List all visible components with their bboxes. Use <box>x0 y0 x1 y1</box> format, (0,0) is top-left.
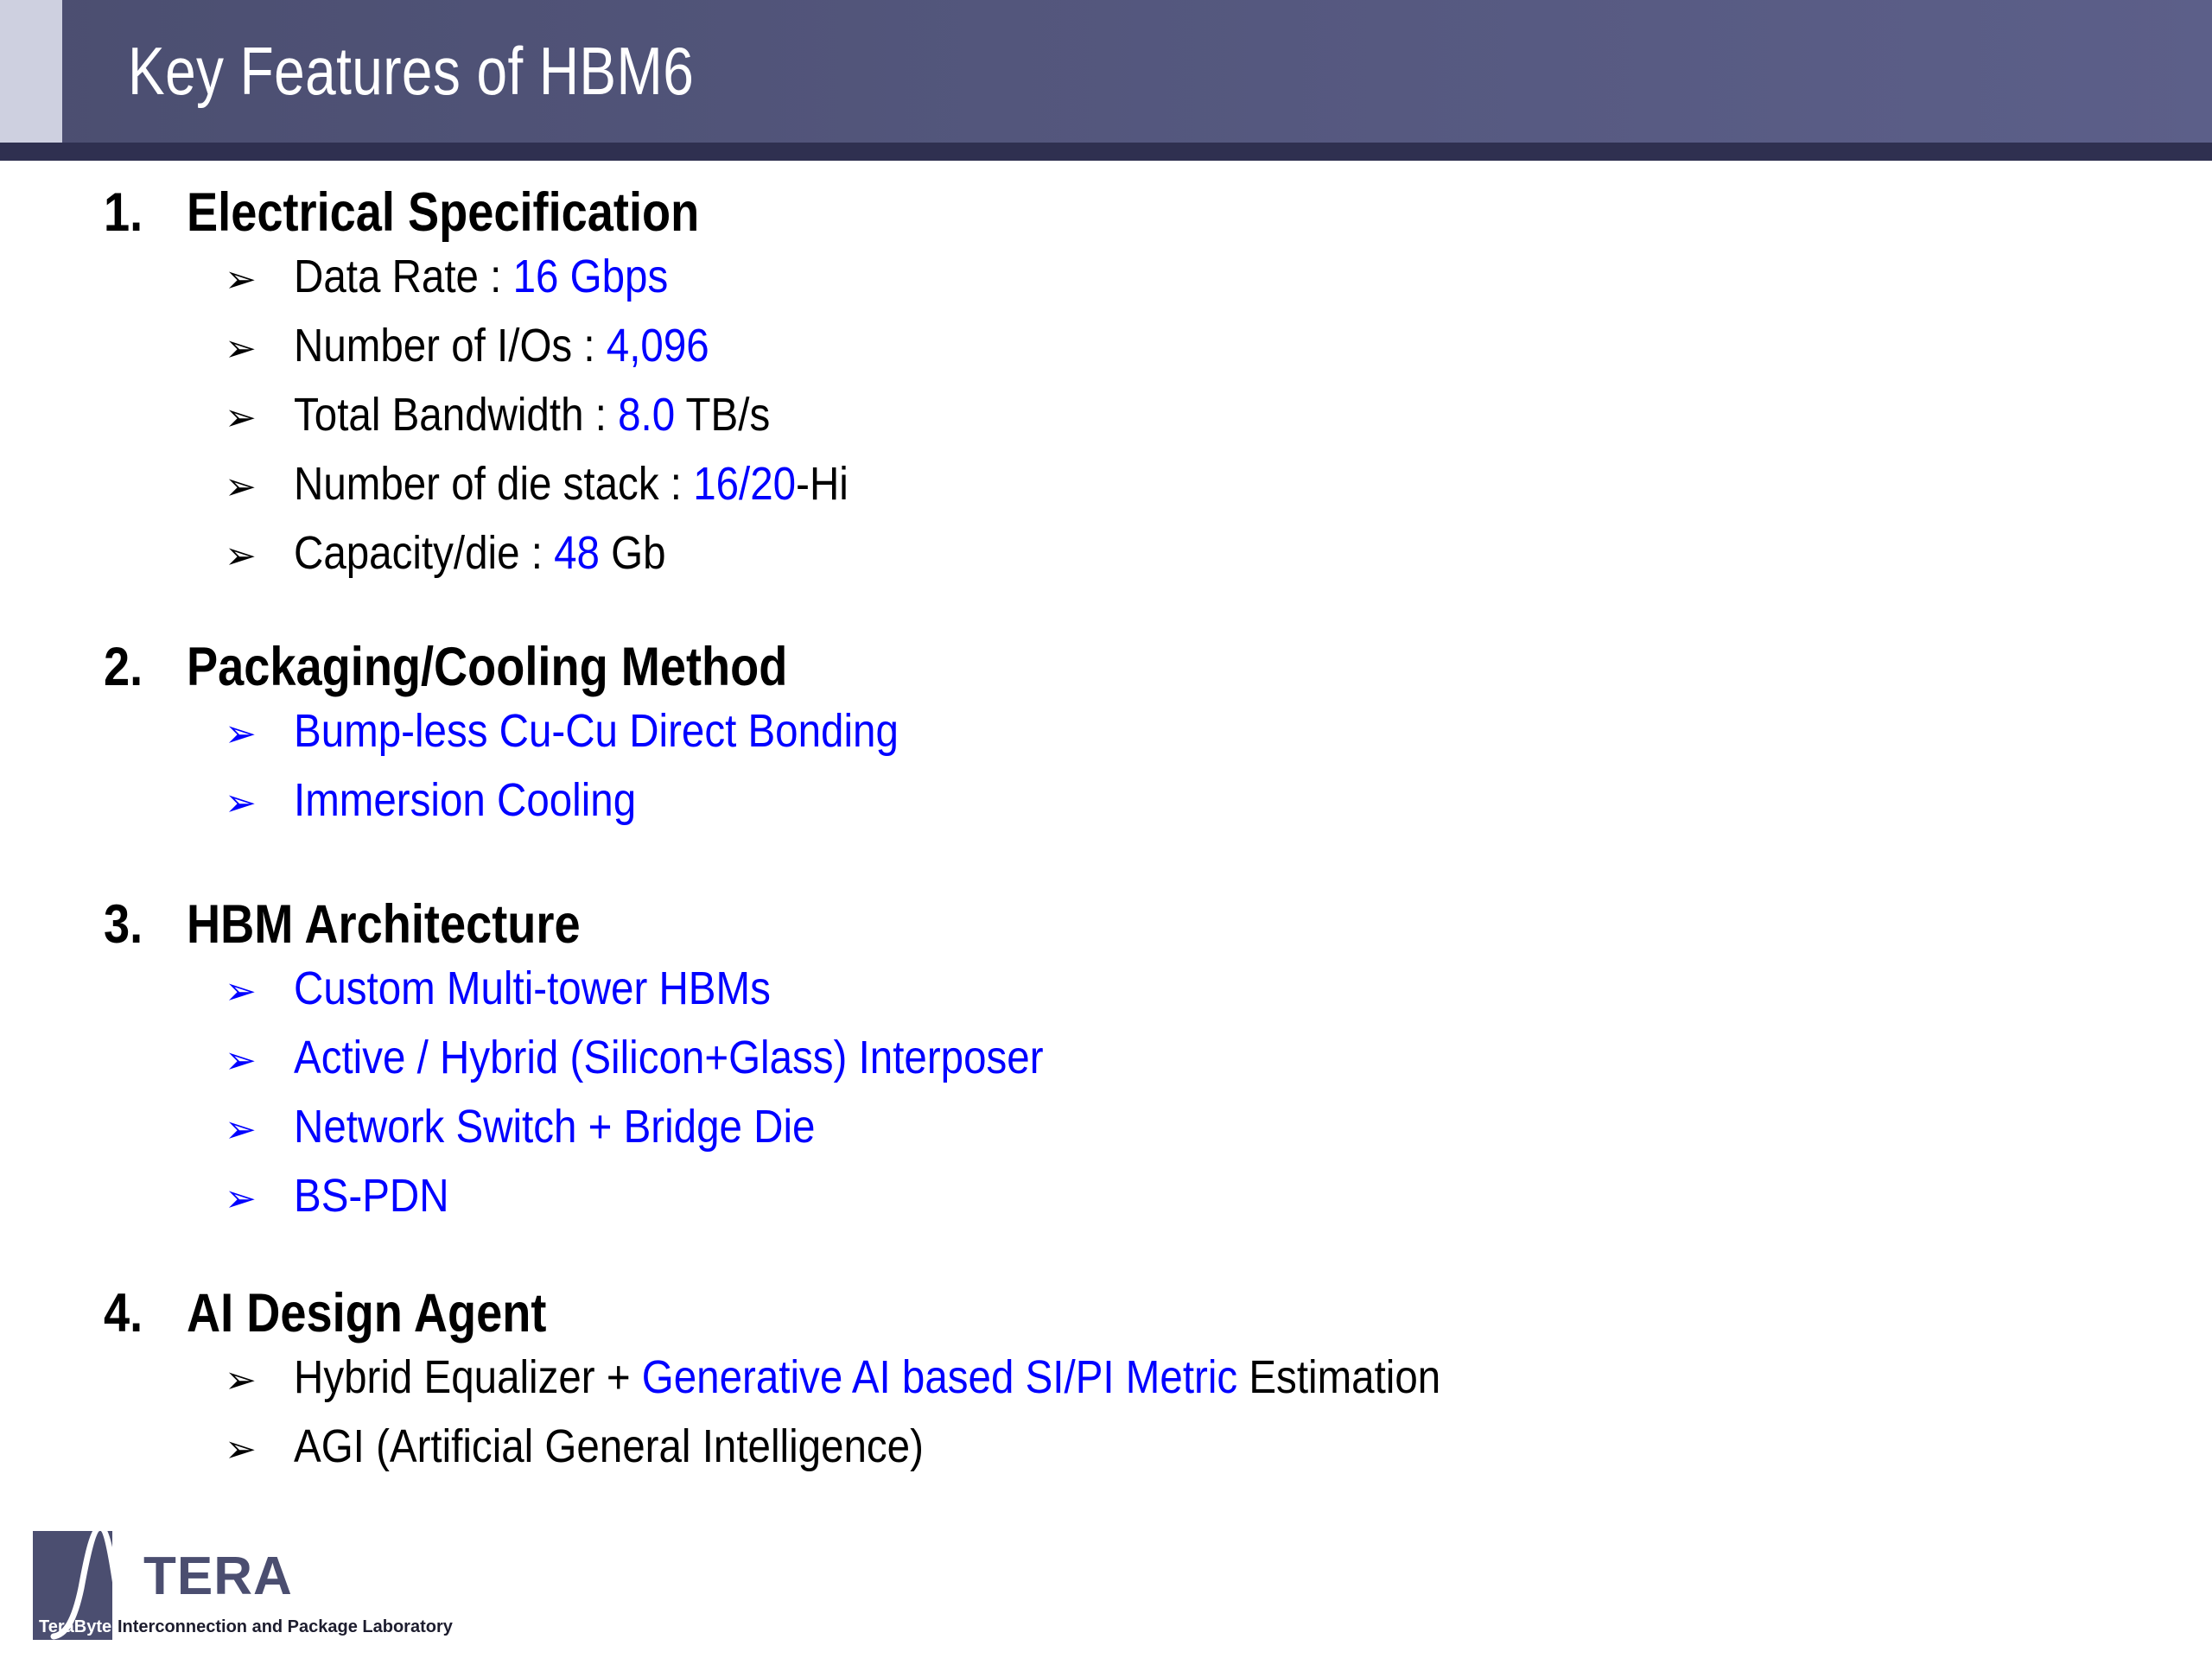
bullet-arrow-icon: ➢ <box>225 1166 294 1232</box>
bullet-item: ➢Total Bandwidth : 8.0 TB/s <box>0 382 2212 451</box>
section-title: HBM Architecture <box>187 893 581 956</box>
bullet-arrow-icon: ➢ <box>225 771 294 836</box>
bullet-arrow-icon: ➢ <box>225 1028 294 1094</box>
outline-section-1: 1.Electrical Specification➢Data Rate : 1… <box>0 181 2212 589</box>
bullet-text-run: 4,096 <box>607 320 709 372</box>
section-number: 1. <box>104 181 175 244</box>
bullet-arrow-icon: ➢ <box>225 1097 294 1163</box>
section-heading: 3.HBM Architecture <box>0 893 2212 956</box>
bullet-text-run: Gbps <box>570 251 669 302</box>
bullet-text: BS-PDN <box>294 1163 449 1229</box>
outline-section-4: 4.AI Design Agent➢Hybrid Equalizer + Gen… <box>0 1282 2212 1483</box>
header-accent-strip <box>0 0 62 143</box>
bullet-text-run: Bump-less Cu-Cu Direct Bonding <box>294 705 899 757</box>
section-title: Electrical Specification <box>187 181 699 244</box>
bullet-text-run: Total Bandwidth : <box>294 389 618 441</box>
bullet-text-run: Gb <box>600 527 666 579</box>
bullet-item: ➢Number of I/Os : 4,096 <box>0 313 2212 382</box>
bullet-arrow-icon: ➢ <box>225 959 294 1025</box>
bullet-item: ➢Immersion Cooling <box>0 767 2212 836</box>
bullet-text-run: Hybrid Equalizer + <box>294 1351 642 1403</box>
bullet-item: ➢Custom Multi-tower HBMs <box>0 956 2212 1025</box>
bullet-text-run: Custom Multi-tower HBMs <box>294 962 771 1014</box>
section-title: AI Design Agent <box>187 1282 546 1344</box>
bullet-text-run: 16 <box>513 251 559 302</box>
bullet-arrow-icon: ➢ <box>225 524 294 589</box>
bullet-text-run: 48 <box>554 527 600 579</box>
outline-section-3: 3.HBM Architecture➢Custom Multi-tower HB… <box>0 893 2212 1232</box>
bullet-text-run: 8.0 <box>618 389 675 441</box>
bullet-text-run: Active / Hybrid (Silicon+Glass) Interpos… <box>294 1032 1044 1083</box>
bullet-text: Total Bandwidth : 8.0 TB/s <box>294 382 770 448</box>
bullet-text-run: -Hi <box>796 458 849 510</box>
bullet-arrow-icon: ➢ <box>225 247 294 313</box>
bullet-text-run: Number of I/Os : <box>294 320 607 372</box>
bullet-item: ➢BS-PDN <box>0 1163 2212 1232</box>
bullet-text-run: TB/s <box>675 389 770 441</box>
bullet-item: ➢Active / Hybrid (Silicon+Glass) Interpo… <box>0 1025 2212 1094</box>
section-title: Packaging/Cooling Method <box>187 636 787 698</box>
bullet-arrow-icon: ➢ <box>225 1417 294 1483</box>
slide: Key Features of HBM6 1.Electrical Specif… <box>0 0 2212 1658</box>
bullet-text-run: Capacity/die : <box>294 527 554 579</box>
bullet-arrow-icon: ➢ <box>225 702 294 767</box>
bullet-text-run: BS-PDN <box>294 1170 449 1222</box>
bullet-text: Custom Multi-tower HBMs <box>294 956 771 1021</box>
bullet-arrow-icon: ➢ <box>225 1348 294 1413</box>
bullet-text: Capacity/die : 48 Gb <box>294 520 666 586</box>
bullet-text: Number of I/Os : 4,096 <box>294 313 709 378</box>
bullet-text-run: Number of die stack : <box>294 458 693 510</box>
bullet-item: ➢Network Switch + Bridge Die <box>0 1094 2212 1163</box>
bullet-text-run: Estimation <box>1237 1351 1440 1403</box>
bullet-text-run: Generative AI based SI/PI Metric <box>642 1351 1237 1403</box>
bullet-text: Bump-less Cu-Cu Direct Bonding <box>294 698 899 764</box>
bullet-item: ➢Capacity/die : 48 Gb <box>0 520 2212 589</box>
bullet-item: ➢AGI (Artificial General Intelligence) <box>0 1413 2212 1483</box>
bullet-item: ➢Bump-less Cu-Cu Direct Bonding <box>0 698 2212 767</box>
bullet-text: Hybrid Equalizer + Generative AI based S… <box>294 1344 1440 1410</box>
slide-content: 1.Electrical Specification➢Data Rate : 1… <box>0 161 2212 1509</box>
bullet-text-run: AGI (Artificial General Intelligence) <box>294 1420 924 1472</box>
bullet-arrow-icon: ➢ <box>225 454 294 520</box>
bullet-arrow-icon: ➢ <box>225 316 294 382</box>
bullet-text: Immersion Cooling <box>294 767 636 833</box>
section-number: 4. <box>104 1282 175 1344</box>
tera-wordmark: TERA <box>143 1550 293 1604</box>
tera-byte-label: TeraByte <box>39 1617 111 1636</box>
bullet-item: ➢Number of die stack : 16/20-Hi <box>0 451 2212 520</box>
section-number: 3. <box>104 893 175 956</box>
bullet-text: AGI (Artificial General Intelligence) <box>294 1413 924 1479</box>
bullet-text: Number of die stack : 16/20-Hi <box>294 451 849 517</box>
section-heading: 2.Packaging/Cooling Method <box>0 636 2212 698</box>
bullet-item: ➢Data Rate : 16 Gbps <box>0 244 2212 313</box>
bullet-arrow-icon: ➢ <box>225 385 294 451</box>
bullet-item: ➢Hybrid Equalizer + Generative AI based … <box>0 1344 2212 1413</box>
slide-footer: TeraByte TERA Interconnection and Packag… <box>0 1509 2212 1658</box>
section-number: 2. <box>104 636 175 698</box>
bullet-text-run: Immersion Cooling <box>294 774 636 826</box>
outline-section-2: 2.Packaging/Cooling Method➢Bump-less Cu-… <box>0 636 2212 836</box>
bullet-text: Active / Hybrid (Silicon+Glass) Interpos… <box>294 1025 1044 1090</box>
bullet-text: Network Switch + Bridge Die <box>294 1094 815 1159</box>
header-underbar <box>0 143 2212 161</box>
tera-sublabel: Interconnection and Package Laboratory <box>118 1617 453 1636</box>
section-heading: 1.Electrical Specification <box>0 181 2212 244</box>
bullet-text-run: Network Switch + Bridge Die <box>294 1101 815 1153</box>
bullet-text-run: Data Rate : <box>294 251 513 302</box>
bullet-text: Data Rate : 16 Gbps <box>294 244 668 309</box>
slide-header-band: Key Features of HBM6 <box>0 0 2212 143</box>
page-title: Key Features of HBM6 <box>128 22 694 119</box>
tera-logo: TeraByte TERA Interconnection and Packag… <box>33 1526 396 1647</box>
section-heading: 4.AI Design Agent <box>0 1282 2212 1344</box>
bullet-text-run: 16/20 <box>693 458 796 510</box>
bullet-text-run <box>558 251 569 302</box>
